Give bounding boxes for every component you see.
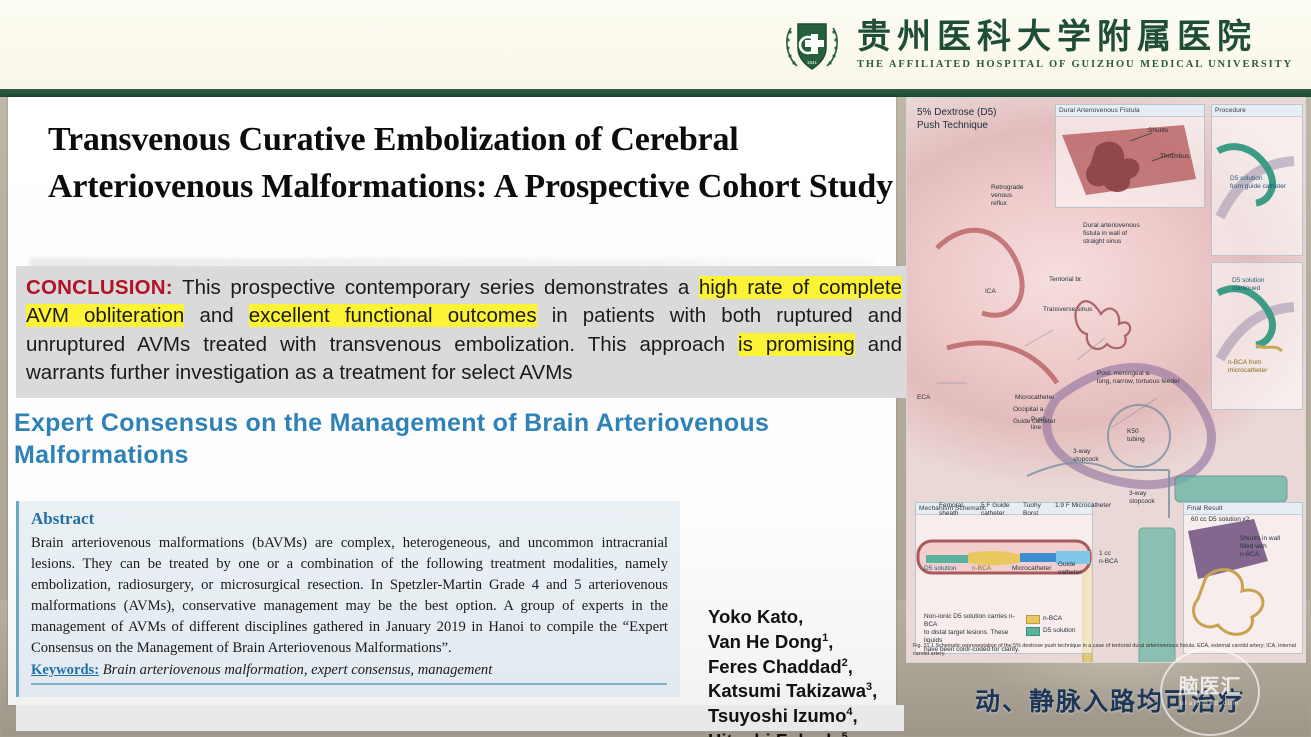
label-shunts: Shunts — [1148, 127, 1168, 135]
conclusion-plain: and — [184, 304, 248, 327]
label-1cc-nbca: 1 cc n-BCA — [1099, 550, 1118, 566]
label-thrombus: Thrombus — [1160, 153, 1189, 161]
label-d5-continued: D5 solution continued — [1232, 277, 1265, 293]
label-3way-stopcock: 3-way stopcock — [1073, 448, 1099, 464]
author-separator: , — [853, 705, 858, 726]
label-fistula-wall: Dural arteriovenous fistula in wall of s… — [1083, 222, 1140, 246]
hospital-name-cn: 贵州医科大学附属医院 — [857, 20, 1257, 56]
conclusion-highlight: is promising — [738, 333, 855, 356]
label-tentorial-br: Tentorial br. — [1049, 276, 1083, 284]
abstract-box: Abstract Brain arteriovenous malformatio… — [16, 501, 680, 697]
svg-text:1941: 1941 — [807, 60, 818, 65]
keywords-value: Brain arteriovenous malformation, expert… — [99, 662, 492, 678]
hospital-name-en: THE AFFILIATED HOSPITAL OF GUIZHOU MEDIC… — [857, 59, 1293, 70]
presentation-slide: 1941 贵州医科大学附属医院 THE AFFILIATED HOSPITAL … — [0, 0, 1311, 737]
label-3way-stopcock-2: 3-way stopcock — [1129, 490, 1155, 506]
author-list: Yoko Kato,Van He Dong1,Feres Chaddad2,Ka… — [708, 605, 898, 737]
author-entry: Tsuyoshi Izumo4, — [708, 704, 898, 729]
abstract-title: Abstract — [31, 509, 668, 529]
author-separator: , — [828, 631, 833, 652]
conclusion-block: CONCLUSION: This prospective contemporar… — [16, 266, 908, 398]
panel-dural-fistula-title: Dural Arteriovenous Fistula — [1056, 105, 1204, 117]
keywords-line: Keywords: Brain arteriovenous malformati… — [31, 662, 667, 685]
label-transverse-sinus: Transverse sinus — [1043, 306, 1092, 314]
panel-final-result: Final Result Shunts in wall filled with … — [1183, 502, 1303, 654]
brand-text-block: 贵州医科大学附属医院 THE AFFILIATED HOSPITAL OF GU… — [857, 20, 1293, 70]
author-name: Van He Dong — [708, 631, 822, 652]
panel-procedure-title: Procedure — [1212, 105, 1302, 117]
consensus-heading: Expert Consensus on the Management of Br… — [14, 407, 864, 471]
label-occipital-a: Occipital a. — [1013, 406, 1045, 414]
label-retrograde-reflux: Retrograde venous reflux — [991, 184, 1024, 208]
conclusion-plain: This prospective contemporary series dem… — [173, 276, 699, 299]
abstract-body: Brain arteriovenous malformations (bAVMs… — [31, 533, 668, 659]
author-separator: , — [848, 730, 853, 737]
label-final-note: Shunts in wall filled with n-BCA — [1240, 535, 1280, 559]
slide-header: 1941 贵州医科大学附属医院 THE AFFILIATED HOSPITAL … — [0, 0, 1311, 89]
author-entry: Feres Chaddad2, — [708, 655, 898, 680]
keywords-label: Keywords: — [31, 662, 99, 678]
panel-final-result-title: Final Result — [1184, 503, 1302, 515]
author-name: Katsumi Takizawa — [708, 680, 866, 701]
conclusion-label: CONCLUSION: — [26, 276, 173, 299]
watermark-cn-text: 脑医汇 — [1179, 677, 1242, 697]
author-entry: Van He Dong1, — [708, 630, 898, 655]
label-d5-from-guide: D5 solution from guide catheter — [1230, 175, 1286, 191]
label-mech-nbca: n-BCA — [972, 565, 991, 573]
label-ica: ICA — [985, 288, 996, 296]
legend-swatch-d5 — [1026, 627, 1040, 636]
figure-main-title: 5% Dextrose (D5) Push Technique — [917, 106, 996, 132]
label-mech-d5: D5 solution — [924, 565, 957, 573]
author-entry: Katsumi Takizawa3, — [708, 679, 898, 704]
legend-label-d5: D5 solution — [1043, 627, 1076, 635]
conclusion-highlight: excellent functional outcomes — [249, 304, 537, 327]
medical-figure: 5% Dextrose (D5) Push Technique Dural Ar… — [906, 97, 1306, 663]
label-mech-guide: Guide catheter — [1058, 561, 1082, 577]
author-separator: , — [848, 656, 853, 677]
panel-procedure: Procedure D5 solution from guide cathete… — [1211, 104, 1303, 256]
author-name: Yoko Kato — [708, 606, 798, 627]
mechanism-legend: n-BCA D5 solution — [1026, 615, 1076, 636]
label-5f-guide-catheter: 5 F Guide catheter — [981, 502, 1010, 518]
label-k50-tubing: K50 tubing — [1127, 428, 1145, 444]
label-microcatheter: Microcatheter — [1015, 394, 1054, 402]
panel-dural-fistula: Dural Arteriovenous Fistula Shunts Throm… — [1055, 104, 1205, 208]
label-nbca-from-micro: n-BCA from microcatheter — [1228, 359, 1267, 375]
author-name: Hitoshi Fukuda — [708, 730, 842, 737]
label-19f-microcatheter: 1.9 F Microcatheter — [1055, 502, 1111, 510]
legend-swatch-nbca — [1026, 615, 1040, 624]
author-name: Tsuyoshi Izumo — [708, 705, 846, 726]
label-post-meningeal: Post. meningeal a. long, narrow, tortuou… — [1097, 370, 1180, 386]
label-tuohy-borst: Tuohy Borst — [1023, 502, 1041, 518]
header-green-divider — [0, 89, 1311, 97]
author-entry: Hitoshi Fukuda5, — [708, 729, 898, 737]
hospital-shield-icon: 1941 — [781, 12, 843, 78]
paper-content-panel: Transvenous Curative Embolization of Cer… — [8, 97, 896, 705]
label-femoral-sheath: Femoral sheath — [939, 502, 963, 518]
label-60cc-syringe: 60 cc D5 solution x2 — [1191, 516, 1250, 524]
label-eca: ECA — [917, 394, 930, 402]
panel-procedure-continued: D5 solution continued n-BCA from microca… — [1211, 262, 1303, 410]
hospital-branding: 1941 贵州医科大学附属医院 THE AFFILIATED HOSPITAL … — [781, 12, 1293, 78]
figure-illustration: 5% Dextrose (D5) Push Technique Dural Ar… — [907, 98, 1305, 662]
legend-label-nbca: n-BCA — [1043, 615, 1062, 623]
author-separator: , — [872, 680, 877, 701]
paper-title: Transvenous Curative Embolization of Cer… — [48, 117, 896, 211]
author-entry: Yoko Kato, — [708, 605, 898, 630]
watermark-en-text: brainmed.com — [1180, 700, 1240, 707]
panel-mechanism-schematic: Mechanism Schematic D5 solution n-BCA Mi… — [915, 502, 1093, 654]
label-push-line: Push line — [1031, 416, 1046, 432]
author-separator: , — [798, 606, 803, 627]
brainmed-watermark: 脑医汇 brainmed.com — [1160, 648, 1260, 736]
author-name: Feres Chaddad — [708, 656, 842, 677]
label-mech-microcatheter: Microcatheter — [1012, 565, 1051, 573]
